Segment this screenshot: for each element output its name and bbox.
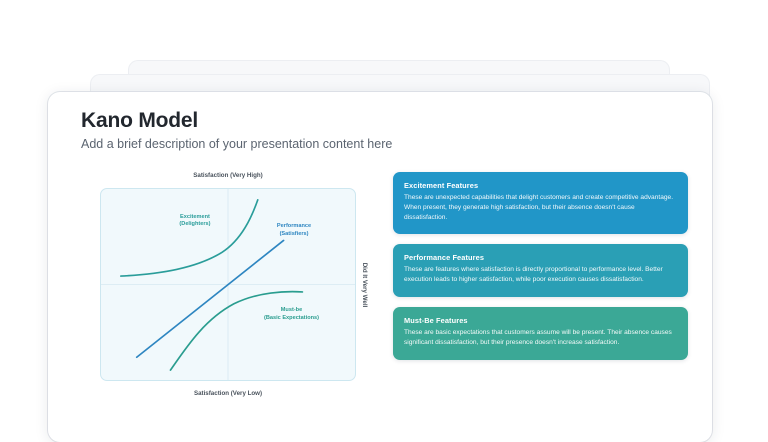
feature-card-excitement[interactable]: Excitement Features These are unexpected… [393,172,688,234]
curve-label-mustbe: Must-be (Basic Expectations) [264,307,319,322]
chart-curves [101,189,355,380]
feature-card-body: These are features where satisfaction is… [404,265,677,285]
curve-label-excitement-line2: (Delighters) [179,221,210,229]
feature-card-title: Excitement Features [404,181,677,190]
feature-card-body: These are basic expectations that custom… [404,328,677,348]
feature-card-body: These are unexpected capabilities that d… [404,193,677,224]
axis-label-bottom: Satisfaction (Very Low) [194,390,262,397]
curve-label-performance: Performance (Satisfiers) [277,223,311,238]
feature-card-mustbe[interactable]: Must-Be Features These are basic expecta… [393,307,688,360]
axis-label-right: Did It Very Well [361,262,368,307]
kano-chart: Satisfaction (Very High) Satisfaction (V… [78,172,378,397]
feature-card-performance[interactable]: Performance Features These are features … [393,244,688,297]
curve-label-excitement-line1: Excitement [179,214,210,222]
curve-label-mustbe-line1: Must-be [264,307,319,315]
curve-mustbe [170,292,302,370]
curve-label-performance-line2: (Satisfiers) [277,231,311,239]
axis-label-top: Satisfaction (Very High) [193,172,262,179]
feature-card-title: Must-Be Features [404,316,677,325]
feature-card-title: Performance Features [404,253,677,262]
slide-card: Kano Model Add a brief description of yo… [48,92,712,442]
page-subtitle: Add a brief description of your presenta… [81,137,392,151]
chart-plot-area: Excitement (Delighters) Performance (Sat… [100,188,356,381]
feature-cards-list: Excitement Features These are unexpected… [393,172,688,370]
page-title: Kano Model [81,109,198,133]
curve-label-excitement: Excitement (Delighters) [179,214,210,229]
curve-excitement [121,200,258,276]
curve-label-mustbe-line2: (Basic Expectations) [264,315,319,323]
curve-label-performance-line1: Performance [277,223,311,231]
